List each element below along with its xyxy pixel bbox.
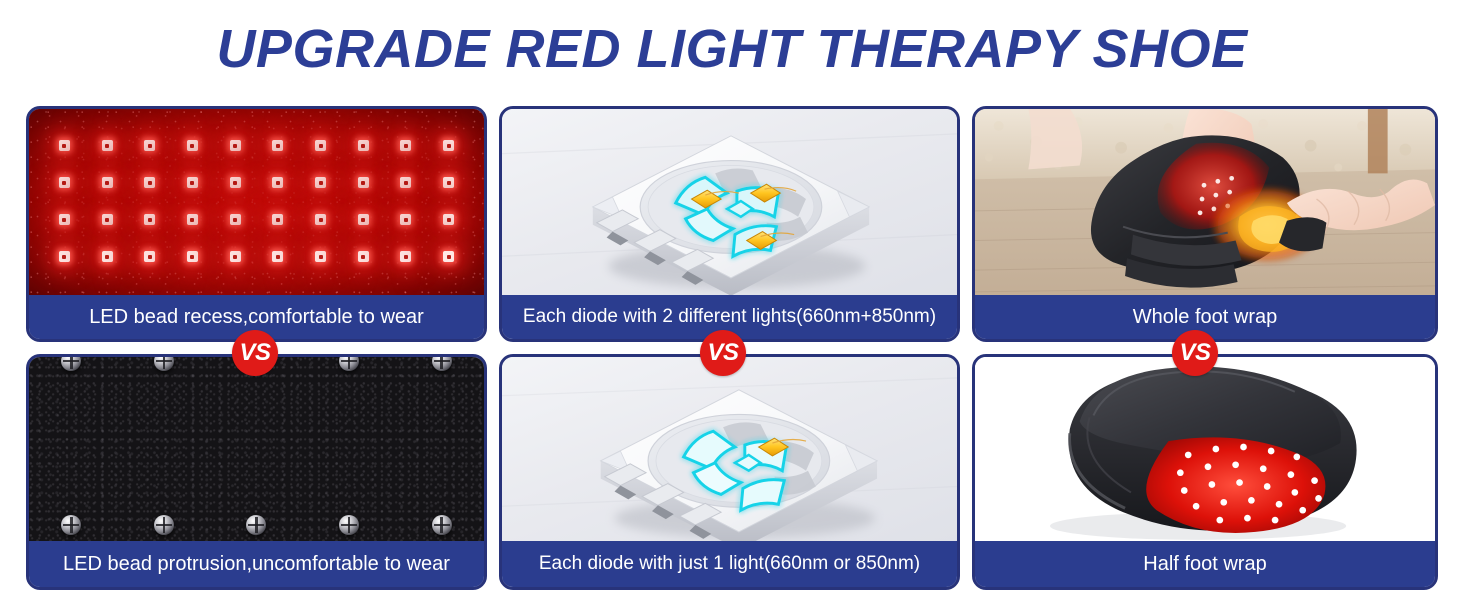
vs-badge-column-3: VS — [1172, 330, 1218, 376]
led-dot-grid — [43, 127, 470, 275]
card-diode-one-light: Each diode with just 1 light(660nm or 85… — [499, 354, 960, 590]
media-smd-led-three-chips — [502, 109, 957, 295]
led-dot — [187, 177, 198, 188]
card-half-foot-wrap: Half foot wrap — [972, 354, 1438, 590]
led-dot — [144, 140, 155, 151]
led-dot — [187, 140, 198, 151]
bead-cell — [339, 357, 359, 371]
led-dot — [400, 214, 411, 225]
led-dot — [187, 251, 198, 262]
protruding-bead-grid — [29, 357, 484, 535]
protruding-bead — [432, 515, 452, 535]
card-whole-foot-wrap: Whole foot wrap — [972, 106, 1438, 342]
caption-diode-one-light: Each diode with just 1 light(660nm or 85… — [502, 541, 957, 587]
bead-cell — [339, 515, 359, 535]
led-dot — [102, 177, 113, 188]
led-dot — [315, 140, 326, 151]
card-diode-two-lights: Each diode with 2 different lights(660nm… — [499, 106, 960, 342]
led-dot — [358, 214, 369, 225]
led-dot — [230, 214, 241, 225]
protruding-bead — [61, 515, 81, 535]
led-dot — [59, 177, 70, 188]
led-dot — [443, 251, 454, 262]
half-foot-wrap-illustration — [975, 357, 1435, 541]
led-dot — [443, 140, 454, 151]
led-dot — [400, 140, 411, 151]
slipper-scene — [975, 357, 1435, 541]
led-dot — [59, 140, 70, 151]
protruding-bead — [246, 515, 266, 535]
bead-cell — [61, 357, 81, 371]
led-dot — [230, 251, 241, 262]
smd-led-render-top — [502, 109, 957, 295]
led-dot — [102, 214, 113, 225]
bead-cell — [246, 515, 266, 535]
led-dot — [230, 140, 241, 151]
led-dot — [358, 251, 369, 262]
media-dark-fabric-beads — [29, 357, 484, 541]
led-dot — [315, 177, 326, 188]
led-dot — [315, 214, 326, 225]
led-dot — [144, 251, 155, 262]
media-half-foot-wrap — [975, 357, 1435, 541]
vs-badge-column-2: VS — [700, 330, 746, 376]
protruding-bead — [339, 515, 359, 535]
led-dot — [187, 214, 198, 225]
protruding-bead — [432, 357, 452, 371]
bead-cell — [154, 357, 174, 371]
protruding-bead — [154, 357, 174, 371]
protruding-bead — [154, 515, 174, 535]
bead-cell — [432, 357, 452, 371]
caption-led-protrusion: LED bead protrusion,uncomfortable to wea… — [29, 541, 484, 587]
protruding-bead — [339, 357, 359, 371]
led-dot — [272, 140, 283, 151]
led-dot — [443, 177, 454, 188]
led-dot — [400, 177, 411, 188]
led-dot — [315, 251, 326, 262]
led-dot — [144, 177, 155, 188]
led-dot — [230, 177, 241, 188]
foot-wrap-photo-illustration — [975, 109, 1435, 295]
led-dot — [443, 214, 454, 225]
bead-cell — [61, 515, 81, 535]
bead-cell — [154, 515, 174, 535]
led-dot — [144, 214, 155, 225]
led-dot — [400, 251, 411, 262]
vs-badge-column-1: VS — [232, 330, 278, 376]
smd-led-render-bottom — [502, 357, 957, 541]
smd-led-diagram-icon — [502, 357, 957, 541]
media-smd-led-one-chip — [502, 357, 957, 541]
smd-led-diagram-icon — [502, 109, 957, 295]
led-dot — [272, 177, 283, 188]
furniture-leg — [1368, 109, 1388, 173]
led-dot — [272, 251, 283, 262]
led-dot — [102, 251, 113, 262]
background-leg — [1028, 109, 1082, 169]
media-red-led-panel — [29, 109, 484, 295]
led-dot — [358, 140, 369, 151]
led-dot — [59, 251, 70, 262]
card-led-recess: LED bead recess,comfortable to wear — [26, 106, 487, 342]
card-led-protrusion: LED bead protrusion,uncomfortable to wea… — [26, 354, 487, 590]
led-dot — [59, 214, 70, 225]
foot-photo-scene — [975, 109, 1435, 295]
bead-cell — [432, 515, 452, 535]
led-dot — [358, 177, 369, 188]
page-title: UPGRADE RED LIGHT THERAPY SHOE — [0, 16, 1464, 82]
caption-half-foot-wrap: Half foot wrap — [975, 541, 1435, 587]
media-foot-in-wrap — [975, 109, 1435, 295]
led-dot — [102, 140, 113, 151]
protruding-bead — [61, 357, 81, 371]
led-dot — [272, 214, 283, 225]
